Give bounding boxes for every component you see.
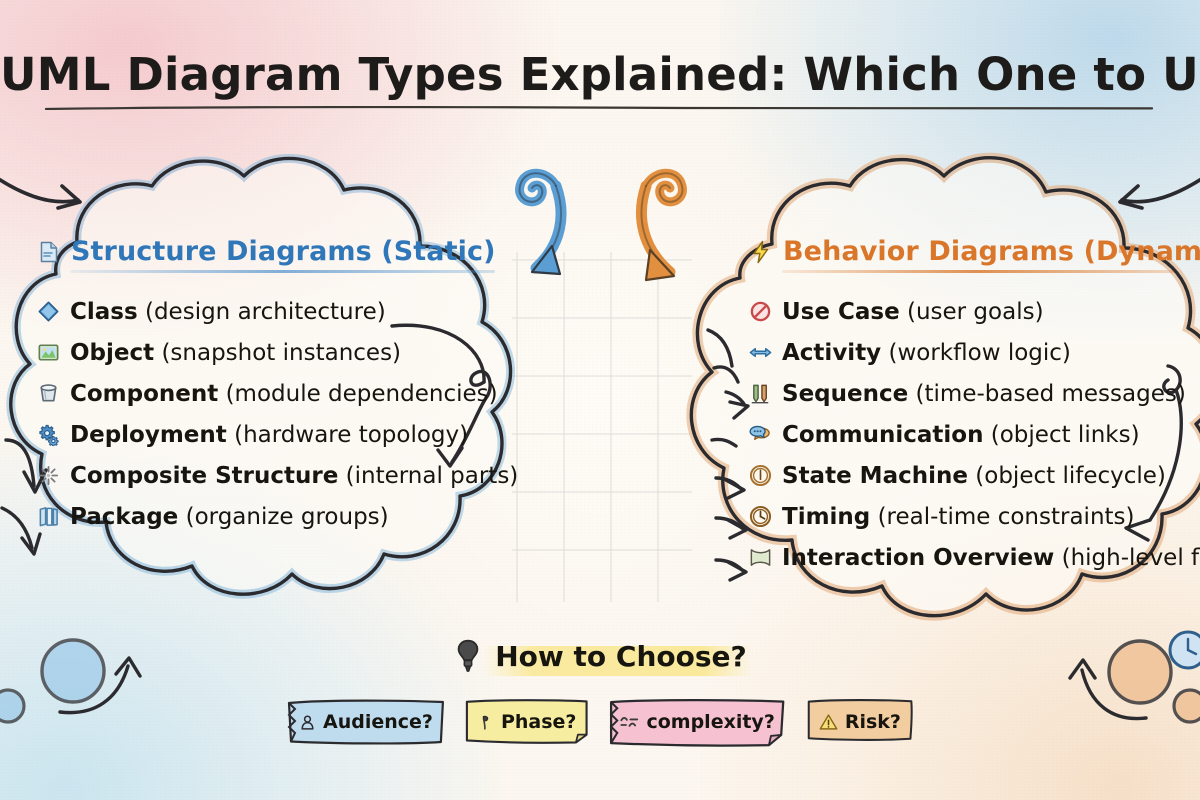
list-item-label: Interaction Overview (high-level flow [782, 545, 1200, 571]
sticky-notes-row: Audience? Phase? [0, 698, 1200, 746]
structure-heading-row: Structure Diagrams (Static) [36, 236, 536, 267]
list-item-label: Composite Structure (internal parts) [70, 463, 518, 489]
list-item-label: Activity (workflow logic) [782, 340, 1071, 366]
cylinder-icon [36, 381, 61, 406]
sticky-note-audience[interactable]: Audience? [286, 698, 446, 746]
sticky-note-phase[interactable]: Phase? [464, 698, 590, 746]
picture-icon [36, 340, 61, 365]
sparkle-burst-icon [36, 463, 61, 488]
note-label: Audience? [323, 711, 433, 733]
list-item-use-case[interactable]: Use Case (user goals) [748, 291, 1200, 332]
list-item-communication[interactable]: Communication (object links) [748, 414, 1200, 455]
page-title-wrap: UML Diagram Types Explained: Which One t… [0, 48, 1200, 101]
infographic-canvas: UML Diagram Types Explained: Which One t… [0, 0, 1200, 800]
note-label: complexity? [646, 711, 774, 733]
wave-chart-icon [620, 714, 639, 730]
person-icon [299, 714, 316, 731]
clock-icon [748, 463, 773, 488]
behavior-panel: Behavior Diagrams (Dynamic) Use Case (us… [748, 236, 1200, 578]
sticky-note-complexity[interactable]: complexity? [607, 698, 787, 746]
structure-heading: Structure Diagrams (Static) [71, 236, 496, 267]
flag-pin-icon [477, 714, 494, 731]
list-item-label: Deployment (hardware topology) [70, 422, 468, 448]
title-underline [44, 106, 1154, 110]
list-item-label: Class (design architecture) [70, 299, 386, 325]
lightbulb-icon [453, 638, 483, 674]
structure-heading-underline [70, 270, 495, 273]
list-item-activity[interactable]: Activity (workflow logic) [748, 332, 1200, 373]
clock-alt-icon [748, 504, 773, 529]
behavior-heading: Behavior Diagrams (Dynamic) [783, 236, 1200, 267]
document-icon [36, 239, 61, 264]
how-to-choose-label: How to Choose? [495, 640, 747, 673]
books-icon [36, 504, 61, 529]
lightning-bolt-icon [748, 239, 773, 264]
pencils-icon [748, 381, 773, 406]
list-item-deployment[interactable]: Deployment (hardware topology) [36, 414, 536, 455]
list-item-label: Package (organize groups) [70, 504, 389, 530]
diamond-icon [36, 299, 61, 324]
list-item-label: Object (snapshot instances) [70, 340, 401, 366]
behavior-heading-row: Behavior Diagrams (Dynamic) [748, 236, 1200, 267]
note-label: Phase? [501, 711, 577, 733]
structure-panel: Structure Diagrams (Static) Class (desig… [36, 236, 536, 537]
list-item-state-machine[interactable]: State Machine (object lifecycle) [748, 455, 1200, 496]
list-item-label: Communication (object links) [782, 422, 1140, 448]
note-label: Risk? [845, 711, 901, 733]
gears-icon [36, 422, 61, 447]
list-item-interaction-overview[interactable]: Interaction Overview (high-level flow [748, 537, 1200, 578]
warning-icon [819, 713, 838, 731]
list-item-composite-structure[interactable]: Composite Structure (internal parts) [36, 455, 536, 496]
list-item-component[interactable]: Component (module dependencies) [36, 373, 536, 414]
list-item-label: Sequence (time-based messages) [782, 381, 1186, 407]
list-item-package[interactable]: Package (organize groups) [36, 496, 536, 537]
list-item-class[interactable]: Class (design architecture) [36, 291, 536, 332]
bowtie-flag-icon [748, 545, 773, 570]
list-item-label: Component (module dependencies) [70, 381, 498, 407]
list-item-label: Use Case (user goals) [782, 299, 1044, 325]
page-title: UML Diagram Types Explained: Which One t… [0, 48, 1200, 101]
prohibition-icon [748, 299, 773, 324]
list-item-object[interactable]: Object (snapshot instances) [36, 332, 536, 373]
list-item-label: Timing (real-time constraints) [782, 504, 1135, 530]
list-item-timing[interactable]: Timing (real-time constraints) [748, 496, 1200, 537]
behavior-item-list: Use Case (user goals) Activity (workflow… [748, 291, 1200, 578]
sticky-note-risk[interactable]: Risk? [806, 698, 914, 746]
list-item-label: State Machine (object lifecycle) [782, 463, 1166, 489]
speech-bubbles-icon [748, 422, 773, 447]
structure-item-list: Class (design architecture) Object (snap… [36, 291, 536, 537]
double-arrow-icon [748, 340, 773, 365]
behavior-heading-underline [782, 270, 1174, 273]
how-to-choose-section: How to Choose? [0, 638, 1200, 677]
list-item-sequence[interactable]: Sequence (time-based messages) [748, 373, 1200, 414]
